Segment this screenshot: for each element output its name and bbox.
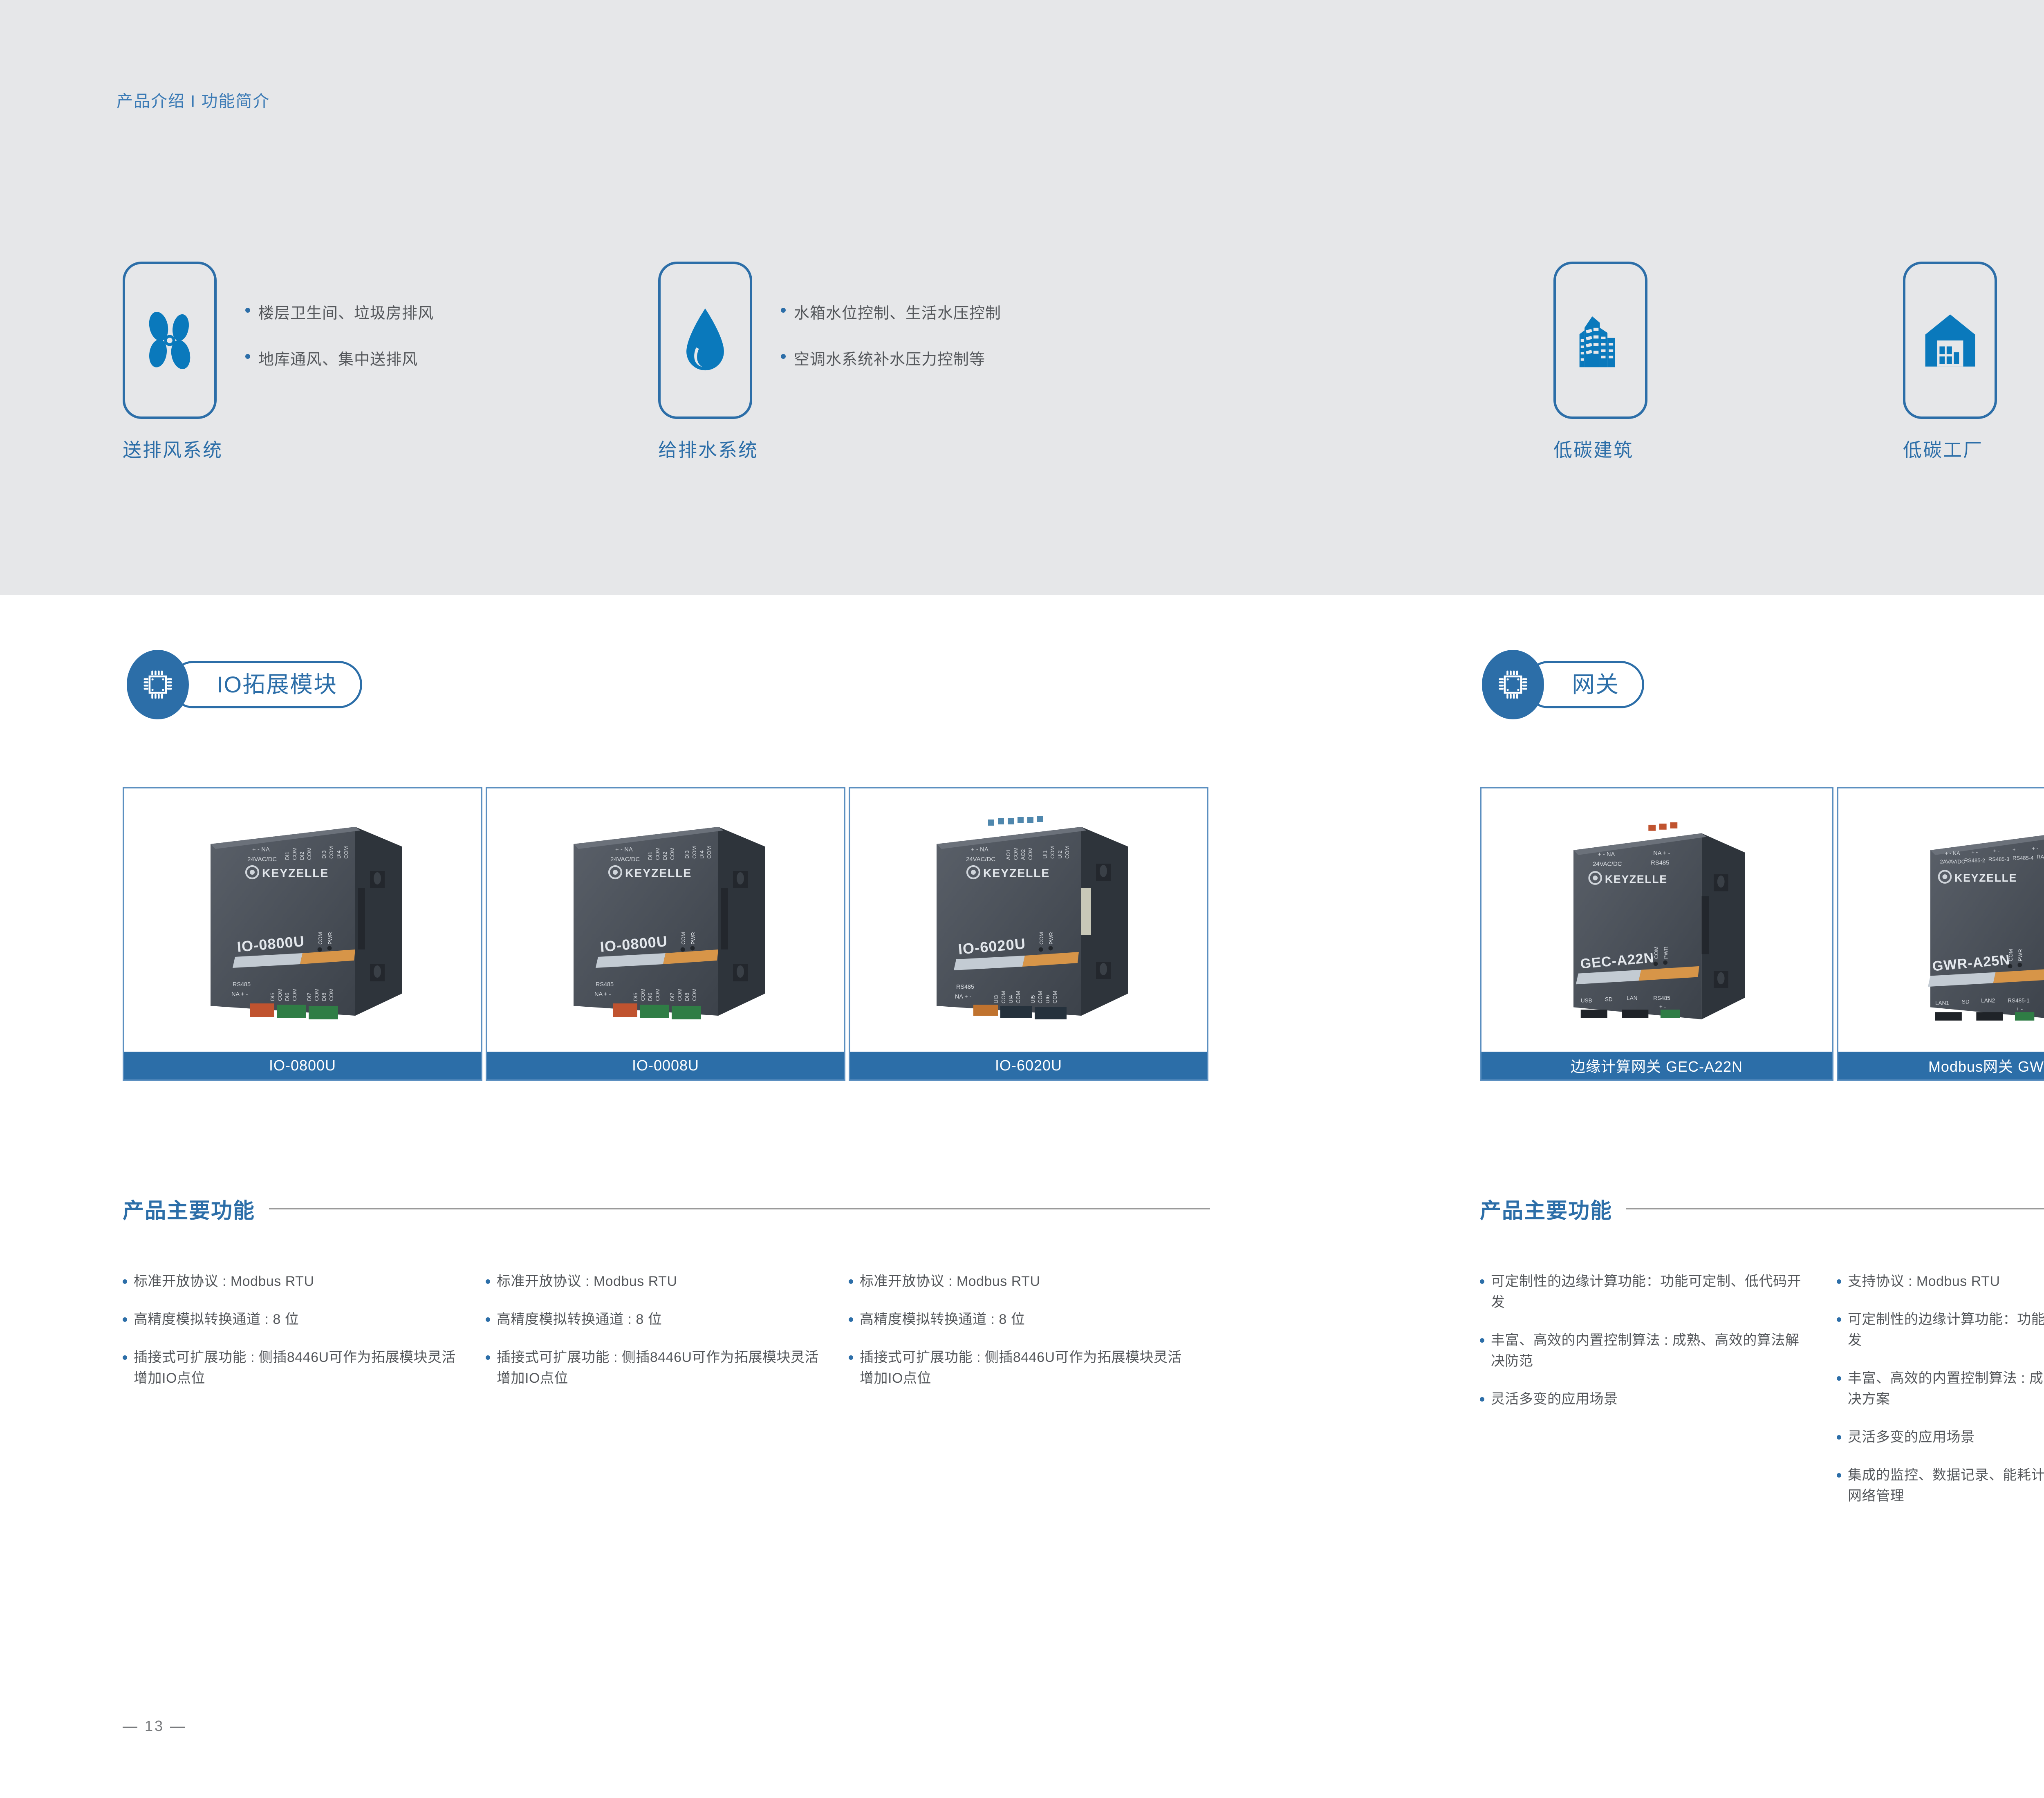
svg-text:PWR: PWR: [1048, 932, 1054, 945]
list-item: 灵活多变的应用场景: [1480, 1389, 1811, 1410]
feature-text: 插接式可扩展功能 : 侧插8446U可作为拓展模块灵活增加IO点位: [497, 1347, 829, 1389]
svg-text:24VAC/DC: 24VAC/DC: [1593, 861, 1622, 867]
bullet-dot: [1837, 1473, 1841, 1478]
office-building-icon-frame: [1553, 262, 1647, 419]
svg-text:PWR: PWR: [690, 932, 696, 945]
svg-text:COM: COM: [691, 988, 697, 1001]
scenario-low-carbon-factory: 低碳工厂: [1903, 262, 2038, 474]
bullet-dot: [781, 308, 786, 313]
svg-text:RS485: RS485: [1651, 860, 1669, 866]
bullet-dot: [849, 1279, 853, 1284]
svg-text:DI8: DI8: [321, 992, 327, 1001]
svg-text:DI3: DI3: [684, 850, 690, 859]
svg-text:UI4: UI4: [1008, 995, 1014, 1003]
svg-text:COM: COM: [328, 846, 334, 859]
svg-text:24VAC/DC: 24VAC/DC: [610, 856, 640, 863]
svg-text:COM: COM: [291, 847, 298, 860]
product-caption: IO-0008U: [487, 1052, 844, 1079]
bullet-dot: [123, 1317, 127, 1322]
features-title: 产品主要功能: [1480, 1193, 1612, 1224]
svg-text:COM: COM: [1015, 991, 1021, 1003]
product-photo-io-0008u: + - NA24VAC/DC DI1 COM DI2 COM DI3 COM D…: [487, 788, 844, 1052]
bullet-dot: [781, 354, 786, 359]
feature-text: 标准开放协议 : Modbus RTU: [860, 1271, 1040, 1292]
running-head-left: 产品介绍 I 功能简介: [117, 88, 270, 112]
features-heading-gateway: 产品主要功能: [1480, 1193, 2044, 1224]
product-caption: 边缘计算网关 GEC-A22N: [1481, 1052, 1832, 1079]
list-item: 高精度模拟转换通道 : 8 位: [486, 1309, 829, 1330]
svg-text:RS485-1: RS485-1: [2008, 997, 2030, 1003]
bullet-dot: [486, 1355, 490, 1360]
list-item: 灵活多变的应用场景: [1837, 1427, 2044, 1448]
svg-text:DI6: DI6: [284, 992, 290, 1001]
bullet-dot: [1837, 1376, 1841, 1381]
scenario-label-low-carbon-factory: 低碳工厂: [1903, 435, 2034, 462]
svg-text:2AVAV/DC: 2AVAV/DC: [1940, 858, 1965, 864]
scenario-low-carbon-building: 低碳建筑: [1553, 262, 1688, 474]
product-card-gec-a22n[interactable]: + - NA24VAC/DC NA + -RS485 KEYZELLE GEC-…: [1480, 787, 1833, 1081]
svg-text:COM: COM: [1653, 946, 1659, 958]
svg-text:NA + -: NA + -: [231, 991, 248, 998]
svg-text:UI3: UI3: [993, 995, 999, 1003]
list-item: 楼层卫生间、垃圾房排风: [245, 300, 580, 323]
list-item: 丰富、高效的内置控制算法 : 成熟、高效的算法解决方案: [1837, 1368, 2044, 1410]
bullet-text: 空调水系统补水压力控制等: [794, 347, 985, 369]
bullet-dot: [486, 1317, 490, 1322]
features-title: 产品主要功能: [123, 1193, 255, 1224]
list-item: 集成的监控、数据记录、能耗计量、报警、调度和网络管理: [1837, 1465, 2044, 1507]
heading-rule: [1626, 1208, 2044, 1209]
svg-text:COM: COM: [343, 846, 349, 859]
svg-text:UI2: UI2: [1057, 850, 1063, 859]
svg-text:COM: COM: [1013, 847, 1019, 860]
list-item: 可定制性的边缘计算功能：功能可定制、低代码开发: [1837, 1309, 2044, 1351]
spread-page: 产品介绍 I 功能简介 产品介绍 I 功能简介 楼层卫生间、垃圾房排风 地库通风…: [0, 0, 2044, 1798]
svg-text:DI2: DI2: [662, 851, 668, 860]
svg-text:RS485: RS485: [956, 984, 974, 990]
feature-text: 丰富、高效的内置控制算法 : 成熟、高效的算法解决防范: [1491, 1330, 1811, 1372]
scenario-label-low-carbon-building: 低碳建筑: [1553, 435, 1684, 462]
svg-text:+ -: + -: [2016, 1006, 2022, 1012]
svg-text:KEYZELLE: KEYZELLE: [1605, 873, 1667, 885]
svg-text:+ -: + -: [2013, 846, 2019, 852]
svg-text:COM: COM: [291, 988, 298, 1001]
svg-text:24VAC/DC: 24VAC/DC: [966, 856, 995, 863]
svg-text:DI1: DI1: [284, 851, 290, 860]
svg-text:AO2: AO2: [1020, 849, 1026, 860]
svg-text:NA + -: NA + -: [594, 991, 611, 998]
list-item: 可定制性的边缘计算功能：功能可定制、低代码开发: [1480, 1271, 1811, 1313]
svg-text:COM: COM: [314, 988, 320, 1001]
feature-column-io-1: 标准开放协议 : Modbus RTU 高精度模拟转换通道 : 8 位 插接式可…: [123, 1271, 466, 1406]
svg-text:USB: USB: [1580, 997, 1592, 1003]
section-badge-label-io: IO拓展模块: [217, 673, 337, 696]
bullet-dot: [123, 1355, 127, 1360]
svg-text:UI6: UI6: [1044, 995, 1051, 1003]
feature-column-io-3: 标准开放协议 : Modbus RTU 高精度模拟转换通道 : 8 位 插接式可…: [849, 1271, 1192, 1406]
svg-text:COM: COM: [1037, 991, 1043, 1003]
chip-icon: [140, 667, 175, 702]
svg-text:COM: COM: [277, 988, 283, 1001]
bullet-dot: [1837, 1435, 1841, 1440]
svg-text:COM: COM: [2008, 949, 2014, 961]
bullet-text: 地库通风、集中送排风: [258, 347, 418, 369]
svg-text:+ -: + -: [1993, 847, 1999, 853]
product-caption: IO-0800U: [124, 1052, 481, 1079]
svg-text:RS485: RS485: [1653, 995, 1670, 1001]
bullet-dot: [123, 1279, 127, 1284]
svg-text:DI7: DI7: [306, 992, 312, 1001]
svg-text:COM: COM: [328, 988, 334, 1001]
svg-text:DI2: DI2: [299, 851, 305, 860]
svg-text:DI3: DI3: [321, 850, 327, 859]
svg-text:DI5: DI5: [632, 992, 639, 1001]
svg-text:DI7: DI7: [669, 992, 675, 1001]
device-image-io-0800u: + - NA24VAC/DC DI1 COM DI2 COM DI3 COM D…: [161, 799, 444, 1041]
feature-text: 集成的监控、数据记录、能耗计量、报警、调度和网络管理: [1848, 1465, 2044, 1507]
list-item: 插接式可扩展功能 : 侧插8446U可作为拓展模块灵活增加IO点位: [849, 1347, 1192, 1389]
feature-text: 灵活多变的应用场景: [1491, 1389, 1618, 1410]
water-drop-icon: [681, 306, 730, 375]
bullet-dot: [1480, 1279, 1484, 1284]
feature-text: 灵活多变的应用场景: [1848, 1427, 1975, 1448]
svg-text:KEYZELLE: KEYZELLE: [1954, 871, 2017, 884]
scenario-label-water: 给排水系统: [658, 435, 789, 462]
svg-text:NA + -: NA + -: [1653, 850, 1670, 856]
device-image-gwr-a25n: + - NA+ - + -+ -+ - 2AVAV/DCRS485-2 RS48…: [1875, 801, 2044, 1040]
bullet-text: 楼层卫生间、垃圾房排风: [258, 300, 434, 323]
svg-text:DI8: DI8: [684, 992, 690, 1001]
svg-text:+ - NA: + - NA: [252, 846, 270, 853]
product-photo-gwr-a25n: + - NA+ - + -+ -+ - 2AVAV/DCRS485-2 RS48…: [1838, 788, 2044, 1052]
svg-text:KEYZELLE: KEYZELLE: [262, 867, 329, 880]
svg-text:RS485: RS485: [596, 981, 614, 988]
bullet-dot: [1837, 1279, 1841, 1284]
product-caption: IO-6020U: [850, 1052, 1207, 1079]
scenario-fan: 楼层卫生间、垃圾房排风 地库通风、集中送排风 送排风系统: [123, 262, 613, 474]
list-item: 水箱水位控制、生活水压控制: [781, 300, 1116, 323]
feature-text: 支持协议 : Modbus RTU: [1848, 1271, 2000, 1292]
svg-text:COM: COM: [1064, 846, 1070, 859]
svg-text:+ -: + -: [1659, 1003, 1665, 1010]
list-item: 高精度模拟转换通道 : 8 位: [123, 1309, 466, 1330]
svg-text:+ - NA: + - NA: [1945, 850, 1960, 856]
svg-text:RA485-5: RA485-5: [2037, 853, 2044, 860]
feature-column-io-2: 标准开放协议 : Modbus RTU 高精度模拟转换通道 : 8 位 插接式可…: [486, 1271, 829, 1406]
water-bullet-list: 水箱水位控制、生活水压控制 空调水系统补水压力控制等: [781, 300, 1116, 393]
svg-text:COM: COM: [1027, 847, 1033, 860]
factory-icon-frame: [1903, 262, 1997, 419]
svg-text:PWR: PWR: [1663, 946, 1669, 958]
feature-text: 高精度模拟转换通道 : 8 位: [497, 1309, 662, 1330]
office-building-icon: [1572, 308, 1629, 373]
svg-text:COM: COM: [1038, 932, 1044, 945]
list-item: 插接式可扩展功能 : 侧插8446U可作为拓展模块灵活增加IO点位: [486, 1347, 829, 1389]
chip-icon-circle: [127, 650, 189, 719]
svg-text:COM: COM: [691, 846, 697, 859]
feature-text: 标准开放协议 : Modbus RTU: [497, 1271, 677, 1292]
svg-text:+ -: + -: [1971, 849, 1978, 855]
feature-text: 可定制性的边缘计算功能：功能可定制、低代码开发: [1848, 1309, 2044, 1351]
fan-bullet-list: 楼层卫生间、垃圾房排风 地库通风、集中送排风: [245, 300, 580, 393]
svg-text:UI5: UI5: [1030, 995, 1036, 1003]
svg-text:+ - NA: + - NA: [971, 846, 988, 853]
svg-text:RS485-4: RS485-4: [2013, 855, 2033, 861]
scenario-water: 水箱水位控制、生活水压控制 空调水系统补水压力控制等 给排水系统: [658, 262, 1149, 474]
list-item: 标准开放协议 : Modbus RTU: [849, 1271, 1192, 1292]
features-heading-io: 产品主要功能: [123, 1193, 1210, 1224]
chip-icon-circle: [1482, 650, 1544, 719]
svg-text:DI1: DI1: [647, 851, 653, 860]
svg-text:COM: COM: [1049, 846, 1056, 859]
svg-text:COM: COM: [640, 988, 646, 1001]
svg-text:KEYZELLE: KEYZELLE: [983, 867, 1050, 880]
device-image-io-6020u: + - NA24VAC/DC AO1 COM AO2 COM UI1 COM U…: [888, 799, 1170, 1041]
svg-text:24VAC/DC: 24VAC/DC: [247, 856, 277, 863]
fan-icon-frame: [123, 262, 217, 419]
svg-text:COM: COM: [654, 847, 661, 860]
svg-text:AO1: AO1: [1005, 849, 1011, 860]
bullet-dot: [245, 308, 250, 313]
svg-text:LAN1: LAN1: [1935, 1000, 1949, 1006]
product-card-gwr-a25n[interactable]: + - NA+ - + -+ -+ - 2AVAV/DCRS485-2 RS48…: [1837, 787, 2044, 1081]
svg-text:UI1: UI1: [1042, 850, 1048, 859]
product-card-io-6020u[interactable]: + - NA24VAC/DC AO1 COM AO2 COM UI1 COM U…: [849, 787, 1208, 1081]
svg-text:COM: COM: [317, 932, 323, 945]
svg-text:COM: COM: [677, 988, 683, 1001]
fan-icon: [139, 308, 200, 373]
svg-text:PWR: PWR: [327, 932, 333, 945]
bullet-dot: [849, 1355, 853, 1360]
section-badge-label-gateway: 网关: [1572, 673, 1619, 696]
list-item: 高精度模拟转换通道 : 8 位: [849, 1309, 1192, 1330]
svg-text:RS485: RS485: [233, 981, 251, 988]
heading-rule: [269, 1208, 1210, 1209]
svg-text:COM: COM: [654, 988, 661, 1001]
scenario-label-fan: 送排风系统: [123, 435, 253, 462]
product-caption: Modbus网关 GWR-A25N: [1838, 1052, 2044, 1079]
svg-text:+ - NA: + - NA: [615, 846, 633, 853]
device-image-gec-a22n: + - NA24VAC/DC NA + -RS485 KEYZELLE GEC-…: [1518, 801, 1796, 1040]
product-card-io-0008u[interactable]: + - NA24VAC/DC DI1 COM DI2 COM DI3 COM D…: [486, 787, 845, 1081]
feature-text: 丰富、高效的内置控制算法 : 成熟、高效的算法解决方案: [1848, 1368, 2044, 1410]
bullet-dot: [486, 1279, 490, 1284]
svg-text:COM: COM: [706, 846, 712, 859]
bullet-dot: [1837, 1317, 1841, 1322]
svg-text:SD: SD: [1605, 996, 1612, 1002]
bullet-dot: [245, 354, 250, 359]
feature-text: 高精度模拟转换通道 : 8 位: [134, 1309, 299, 1330]
water-drop-icon-frame: [658, 262, 752, 419]
svg-text:DI4: DI4: [336, 850, 342, 859]
product-photo-gec-a22n: + - NA24VAC/DC NA + -RS485 KEYZELLE GEC-…: [1481, 788, 1832, 1052]
feature-text: 高精度模拟转换通道 : 8 位: [860, 1309, 1025, 1330]
feature-text: 可定制性的边缘计算功能：功能可定制、低代码开发: [1491, 1271, 1811, 1313]
bullet-dot: [849, 1317, 853, 1322]
factory-icon: [1921, 310, 1980, 371]
list-item: 标准开放协议 : Modbus RTU: [123, 1271, 466, 1292]
feature-text: 插接式可扩展功能 : 侧插8446U可作为拓展模块灵活增加IO点位: [860, 1347, 1192, 1389]
feature-text: 插接式可扩展功能 : 侧插8446U可作为拓展模块灵活增加IO点位: [134, 1347, 466, 1389]
svg-text:+ -: + -: [2032, 845, 2038, 851]
svg-text:PWR: PWR: [2017, 949, 2023, 961]
bullet-text: 水箱水位控制、生活水压控制: [794, 300, 1001, 323]
list-item: 地库通风、集中送排风: [245, 347, 580, 369]
svg-text:KEYZELLE: KEYZELLE: [625, 867, 692, 880]
svg-text:RS485-2: RS485-2: [1964, 857, 1985, 863]
svg-text:RS485-3: RS485-3: [1988, 856, 2009, 862]
svg-text:COM: COM: [1000, 991, 1006, 1003]
feature-column-gw-2: 支持协议 : Modbus RTU 可定制性的边缘计算功能：功能可定制、低代码开…: [1837, 1271, 2044, 1524]
page-number-left: — 13 —: [123, 1717, 186, 1735]
product-photo-io-6020u: + - NA24VAC/DC AO1 COM AO2 COM UI1 COM U…: [850, 788, 1207, 1052]
svg-text:NA + -: NA + -: [955, 994, 972, 1000]
svg-text:COM: COM: [669, 847, 675, 860]
svg-text:COM: COM: [680, 932, 686, 945]
chip-icon: [1495, 667, 1531, 702]
svg-text:DI6: DI6: [647, 992, 653, 1001]
feature-text: 标准开放协议 : Modbus RTU: [134, 1271, 314, 1292]
list-item: 插接式可扩展功能 : 侧插8446U可作为拓展模块灵活增加IO点位: [123, 1347, 466, 1389]
product-card-io-0800u[interactable]: + - NA24VAC/DC DI1 COM DI2 COM DI3 COM D…: [123, 787, 482, 1081]
svg-text:LAN2: LAN2: [1981, 997, 1995, 1003]
bullet-dot: [1480, 1338, 1484, 1343]
list-item: 空调水系统补水压力控制等: [781, 347, 1116, 369]
svg-text:DI5: DI5: [269, 992, 276, 1001]
svg-text:LAN: LAN: [1627, 995, 1637, 1001]
svg-text:+ - NA: + - NA: [1598, 851, 1615, 858]
list-item: 标准开放协议 : Modbus RTU: [486, 1271, 829, 1292]
product-photo-io-0800u: + - NA24VAC/DC DI1 COM DI2 COM DI3 COM D…: [124, 788, 481, 1052]
svg-text:COM: COM: [306, 847, 312, 860]
list-item: 支持协议 : Modbus RTU: [1837, 1271, 2044, 1292]
bullet-dot: [1480, 1397, 1484, 1402]
device-image-io-0008u: + - NA24VAC/DC DI1 COM DI2 COM DI3 COM D…: [524, 799, 807, 1041]
svg-text:DI4: DI4: [699, 850, 705, 859]
feature-column-gw-1: 可定制性的边缘计算功能：功能可定制、低代码开发 丰富、高效的内置控制算法 : 成…: [1480, 1271, 1811, 1427]
list-item: 丰富、高效的内置控制算法 : 成熟、高效的算法解决防范: [1480, 1330, 1811, 1372]
svg-text:COM: COM: [1052, 991, 1058, 1003]
section-badge-pill-io: IO拓展模块: [170, 661, 362, 708]
svg-text:SD: SD: [1961, 999, 1969, 1005]
